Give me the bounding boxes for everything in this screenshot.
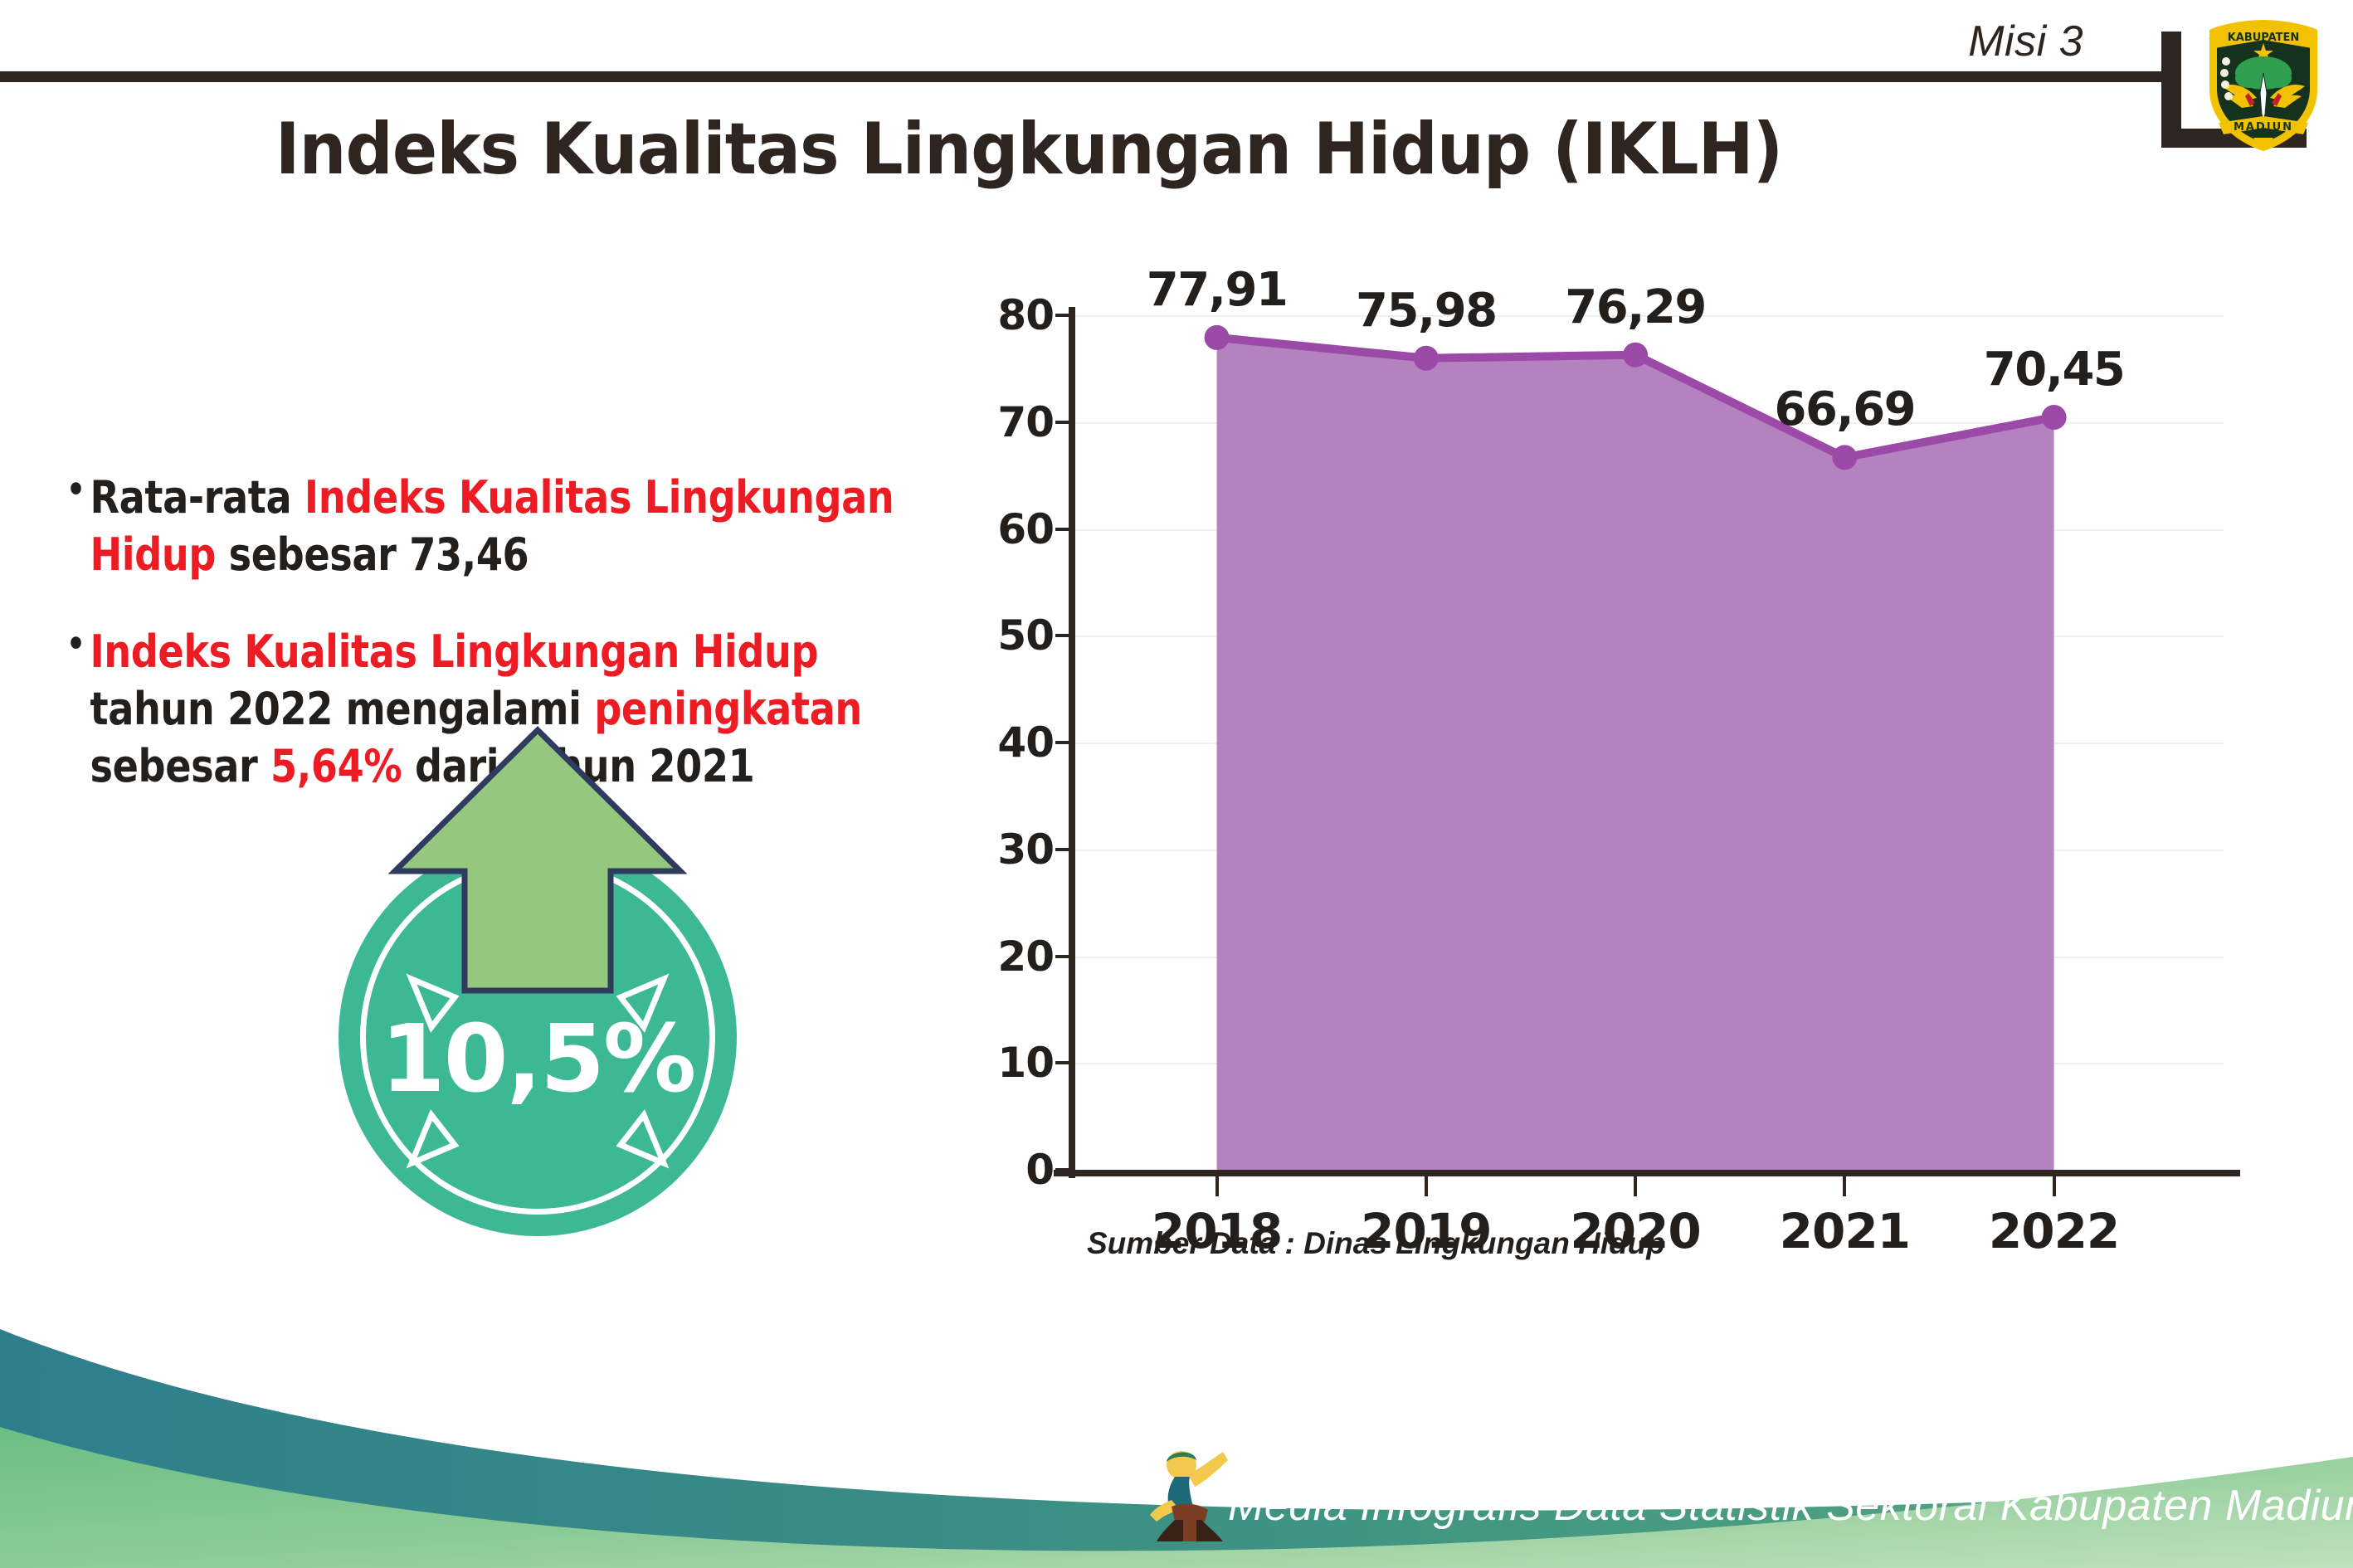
- dancer-figure-icon: [1147, 1442, 1238, 1546]
- badge-value: 10,5%: [322, 1006, 753, 1113]
- data-point-label: 66,69: [1741, 382, 1948, 436]
- gridline: [1070, 529, 2224, 531]
- data-point-label: 76,29: [1532, 280, 1739, 334]
- footer-caption: Media Infografis Data Statistik Sektoral…: [1228, 1481, 2353, 1531]
- bullet-highlight-text: 5,64%: [270, 740, 402, 792]
- kabupaten-madiun-logo-icon: KABUPATEN MADIUN: [2197, 13, 2330, 156]
- source-note: Sumber Data : Dinas Lingkungan Hidup: [1087, 1226, 1665, 1261]
- y-axis-tick-label: 0: [946, 1146, 1054, 1194]
- y-axis-tick-label: 20: [946, 933, 1054, 981]
- svg-text:KABUPATEN: KABUPATEN: [2228, 32, 2300, 44]
- data-point-marker: [2042, 405, 2067, 430]
- svg-text:MADIUN: MADIUN: [2234, 121, 2293, 134]
- x-axis-tick-mark: [2053, 1176, 2056, 1196]
- header-divider-rule: [0, 71, 2178, 82]
- bullet-text: sebesar 73,46: [216, 528, 529, 581]
- bullet-text: sebesar: [90, 740, 271, 792]
- gridline: [1070, 1063, 2224, 1064]
- data-point-marker: [1414, 346, 1439, 371]
- data-point-marker: [1832, 445, 1857, 470]
- gridline: [1070, 635, 2224, 637]
- data-point-label: 75,98: [1323, 284, 1530, 338]
- gridline: [1070, 850, 2224, 851]
- y-axis-tick-label: 40: [946, 718, 1054, 767]
- gridline: [1070, 743, 2224, 744]
- y-axis-tick-label: 30: [946, 825, 1054, 874]
- data-point-label: 70,45: [1951, 343, 2158, 397]
- y-axis-line: [1069, 307, 1075, 1178]
- bullet-text: Rata-rata: [90, 471, 304, 523]
- y-axis-tick-label: 10: [946, 1039, 1054, 1087]
- iklh-area-chart: 01020304050607080 20182019202020212022 7…: [954, 282, 2282, 1220]
- gridline: [1070, 422, 2224, 424]
- gridline: [1070, 957, 2224, 958]
- x-axis-tick-mark: [1215, 1176, 1219, 1196]
- data-point-marker: [1205, 325, 1230, 350]
- bullet-item: Rata-rata Indeks Kualitas Lingkungan Hid…: [66, 469, 910, 583]
- x-axis-tick-label: 2022: [1963, 1203, 2146, 1259]
- x-axis-line: [1054, 1170, 2240, 1176]
- increase-badge: 10,5%: [322, 821, 753, 1253]
- data-point-marker: [1623, 343, 1648, 368]
- infographic-slide: Misi 3 KABUPATEN: [0, 0, 2353, 1568]
- up-arrow-icon: [388, 725, 687, 999]
- y-axis-tick-label: 80: [946, 291, 1054, 339]
- y-axis-tick-label: 70: [946, 398, 1054, 446]
- page-title: Indeks Kualitas Lingkungan Hidup (IKLH): [72, 108, 1985, 191]
- bullet-highlight-text: Indeks Kualitas Lingkungan Hidup: [90, 626, 819, 678]
- x-axis-tick-label: 2021: [1753, 1203, 1936, 1259]
- x-axis-tick-mark: [1425, 1176, 1428, 1196]
- x-axis-tick-mark: [1634, 1176, 1637, 1196]
- y-axis-tick-label: 50: [946, 611, 1054, 660]
- misi-label: Misi 3: [1968, 17, 2083, 66]
- y-axis-tick-label: 60: [946, 505, 1054, 553]
- data-point-label: 77,91: [1113, 263, 1321, 317]
- x-axis-tick-mark: [1843, 1176, 1846, 1196]
- area-fill: [1217, 338, 2054, 1170]
